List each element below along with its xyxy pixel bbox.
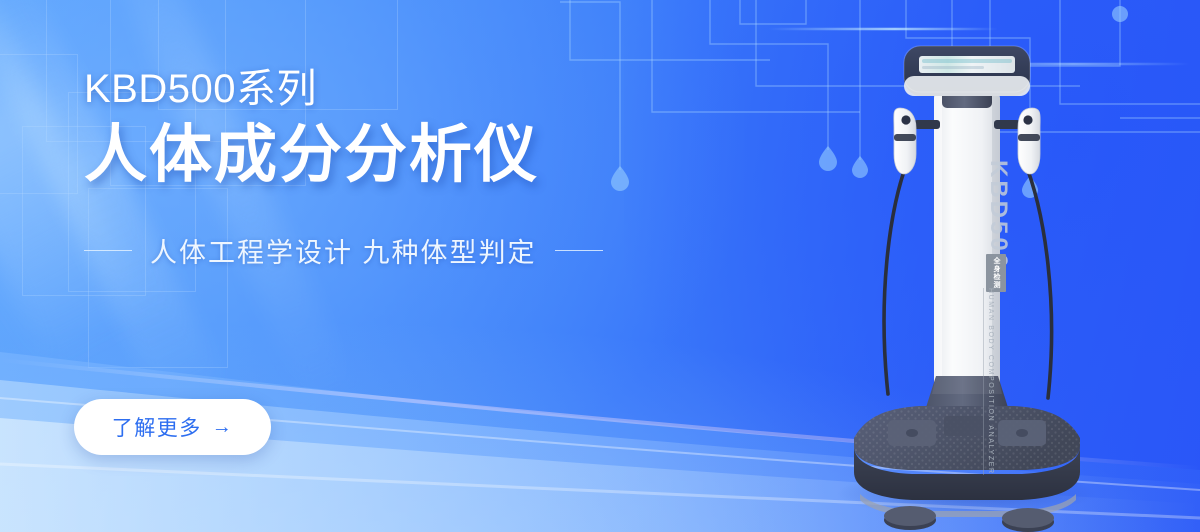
product-series-label: KBD500系列: [84, 66, 704, 112]
product-hero-banner: KBD500 全身检测 HUMAN BODY COMPOSITION ANALY…: [0, 0, 1200, 532]
decorative-square: [0, 54, 78, 194]
rule-right-icon: [555, 250, 603, 251]
glow-accent-line: [768, 28, 998, 30]
rule-left-icon: [84, 250, 132, 251]
page-title: 人体成分分析仪: [84, 120, 704, 191]
learn-more-button[interactable]: 了解更多 →: [74, 399, 271, 455]
hero-subtitle-row: 人体工程学设计 九种体型判定: [84, 231, 664, 270]
hero-copy: KBD500系列 人体成分分析仪 人体工程学设计 九种体型判定: [84, 66, 704, 270]
hero-subtitle: 人体工程学设计 九种体型判定: [150, 231, 537, 270]
learn-more-label: 了解更多: [112, 412, 202, 442]
product-image-kbd500: KBD500 全身检测 HUMAN BODY COMPOSITION ANALY…: [826, 42, 1106, 512]
arrow-right-icon: →: [212, 417, 234, 437]
